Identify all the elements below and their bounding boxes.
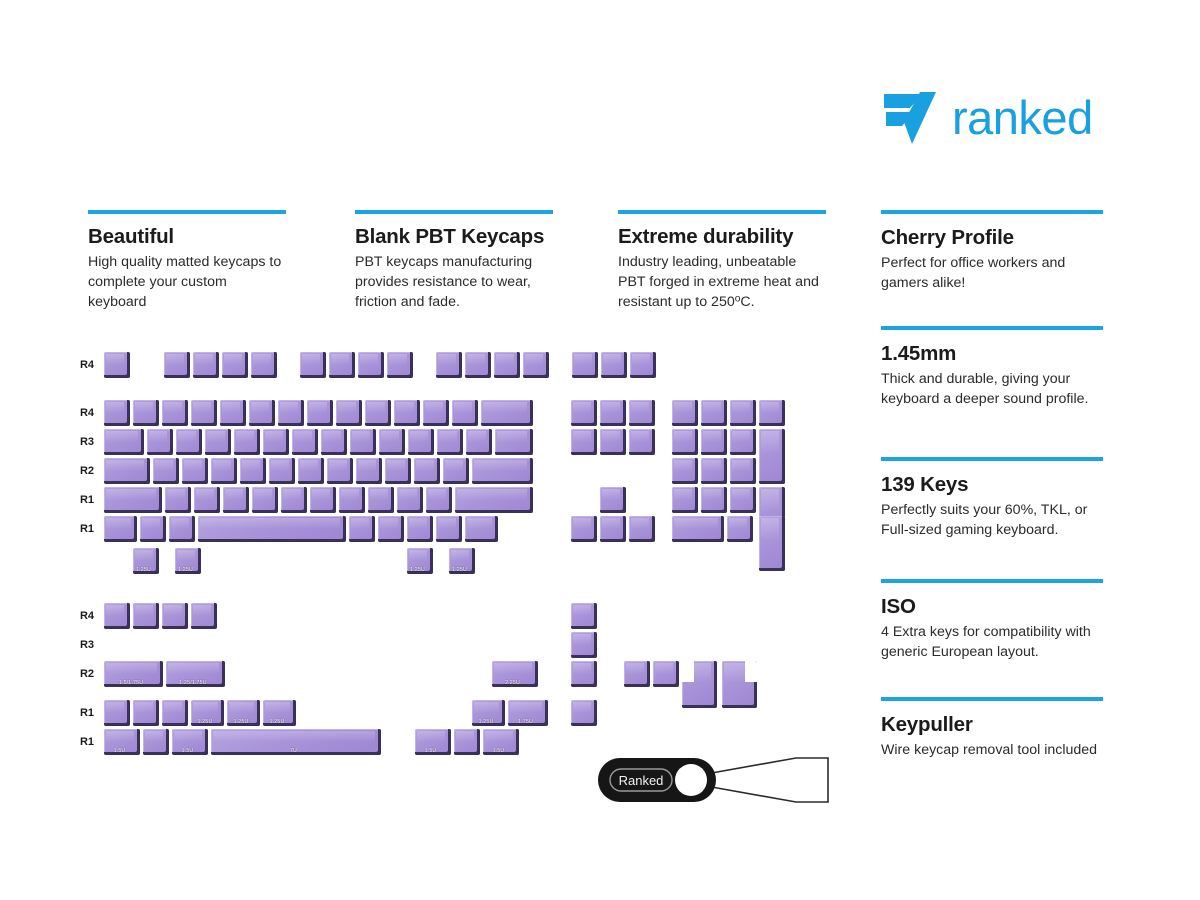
keycap [240, 458, 266, 484]
feature-title: Cherry Profile [881, 226, 1103, 250]
keycap-size-label: 1.5U [483, 748, 514, 755]
keycap [365, 400, 391, 426]
keycap [211, 458, 237, 484]
keycap-size-label: 1.25U [472, 719, 500, 726]
keycap [672, 429, 698, 455]
keycap [629, 516, 655, 542]
keycap-size-label: 2.25U [492, 680, 533, 687]
keyboard-row-label: R3 [68, 639, 94, 651]
keycap [162, 603, 188, 629]
keycap [571, 632, 597, 658]
keycap [727, 516, 753, 542]
keycap-size-label: 1.25U [175, 567, 196, 574]
keycap: 1.5/1.75U [104, 661, 163, 687]
keycap [701, 487, 727, 513]
keycap [426, 487, 452, 513]
keycap [339, 487, 365, 513]
keycap [653, 661, 679, 687]
keycap [394, 400, 420, 426]
keycap: 2.25U [492, 661, 538, 687]
keycap: 1.5U [483, 729, 519, 755]
keycap-size-label: 1.5U [104, 748, 135, 755]
side-feature-keypuller: Keypuller Wire keycap removal tool inclu… [881, 697, 1103, 760]
keycap [523, 352, 549, 378]
keycap: 1.25U [227, 700, 260, 726]
keycap [682, 661, 717, 708]
keycap [571, 429, 597, 455]
keycap [600, 516, 626, 542]
keycap-size-label: 1.5/1.75U [104, 680, 158, 687]
keyboard-row-label: R2 [68, 465, 94, 477]
keycap [263, 429, 289, 455]
keycap: 1.5U [172, 729, 208, 755]
keycap [104, 700, 130, 726]
keycap: 1.25U [472, 700, 505, 726]
keycap-size-label: 1.5U [172, 748, 203, 755]
side-feature-cherry-profile: Cherry Profile Perfect for office worker… [881, 210, 1103, 293]
keycap [672, 487, 698, 513]
keycap [730, 487, 756, 513]
keycap [672, 400, 698, 426]
keycap [494, 352, 520, 378]
keycap [571, 603, 597, 629]
keycap-size-label: 1.25U [191, 719, 219, 726]
infographic-page: ranked Beautiful High quality matted key… [0, 0, 1200, 900]
keycap [481, 400, 533, 426]
keycap [193, 352, 219, 378]
brand-wordmark: ranked [952, 94, 1093, 141]
keycap [133, 700, 159, 726]
keyboard-row-label: R1 [68, 494, 94, 506]
feature-rule [881, 326, 1103, 330]
keycap [198, 516, 346, 542]
feature-title: ISO [881, 595, 1103, 619]
keycap: 1.5U [104, 729, 140, 755]
brand-logo: ranked [880, 88, 1093, 146]
keycap [600, 429, 626, 455]
keycap [436, 516, 462, 542]
keycap [356, 458, 382, 484]
keycap: 1.5U [415, 729, 451, 755]
keycap: 1.75U [508, 700, 548, 726]
keycap [162, 400, 188, 426]
keycap-size-label: 1.75U [508, 719, 543, 726]
keycap [223, 487, 249, 513]
keycap [281, 487, 307, 513]
keycap: 7U [211, 729, 381, 755]
keycap [701, 400, 727, 426]
keycap [368, 487, 394, 513]
keycap [759, 400, 785, 426]
keycap [397, 487, 423, 513]
keycap [278, 400, 304, 426]
side-feature-key-count: 139 Keys Perfectly suits your 60%, TKL, … [881, 457, 1103, 540]
keycap [162, 700, 188, 726]
feature-body: Thick and durable, giving your keyboard … [881, 369, 1103, 409]
keycap [164, 352, 190, 378]
feature-body: 4 Extra keys for compatibility with gene… [881, 622, 1103, 662]
keycap [310, 487, 336, 513]
keycap [437, 429, 463, 455]
feature-body: Perfectly suits your 60%, TKL, or Full-s… [881, 500, 1103, 540]
feature-title: 1.45mm [881, 342, 1103, 366]
keycap [165, 487, 191, 513]
keycap [472, 458, 533, 484]
keycap [452, 400, 478, 426]
feature-rule [881, 697, 1103, 701]
keycap [722, 661, 757, 708]
keycap [571, 400, 597, 426]
keycap [454, 729, 480, 755]
keycap: 1.25U [263, 700, 296, 726]
keycap [701, 429, 727, 455]
side-feature-iso: ISO 4 Extra keys for compatibility with … [881, 579, 1103, 662]
keycap [182, 458, 208, 484]
keycap [104, 458, 150, 484]
keycap-size-label: 1.5U [415, 748, 446, 755]
keycap-size-label: 1.25U [263, 719, 291, 726]
keycap [104, 400, 130, 426]
keycap-size-label: 1.25U [407, 567, 428, 574]
keycap [630, 352, 656, 378]
keycap [104, 487, 162, 513]
keycap: 1.25U [449, 548, 475, 574]
keycap [298, 458, 324, 484]
keycap [436, 352, 462, 378]
keycap [730, 400, 756, 426]
keycap [104, 603, 130, 629]
keyboard-row-label: R1 [68, 707, 94, 719]
keyboard-row-label: R3 [68, 436, 94, 448]
keycap [571, 516, 597, 542]
keycap [147, 429, 173, 455]
keycap [194, 487, 220, 513]
keycap [672, 458, 698, 484]
keycap [153, 458, 179, 484]
keycap [269, 458, 295, 484]
keycap [672, 516, 724, 542]
svg-text:Ranked: Ranked [619, 773, 664, 788]
feature-title: Keypuller [881, 713, 1103, 737]
keycap: 1.25/1.75U [166, 661, 225, 687]
keyboard-row-label: R4 [68, 407, 94, 419]
keycap [349, 516, 375, 542]
keycap [104, 516, 137, 542]
keycap [300, 352, 326, 378]
keycap [600, 400, 626, 426]
keycap [176, 429, 202, 455]
keyboard-row-label: R1 [68, 736, 94, 748]
keyboard-row-label: R1 [68, 523, 94, 535]
keycap [571, 700, 597, 726]
keycap [466, 429, 492, 455]
keycap [730, 429, 756, 455]
keycap-size-label: 1.25/1.75U [166, 680, 220, 687]
keycap [133, 400, 159, 426]
keycap [455, 487, 533, 513]
keycap [414, 458, 440, 484]
keycap [222, 352, 248, 378]
keycap [252, 487, 278, 513]
feature-title: 139 Keys [881, 473, 1103, 497]
keycap [104, 352, 130, 378]
keycap [249, 400, 275, 426]
keycap [378, 516, 404, 542]
keycap [133, 603, 159, 629]
keycap [191, 603, 217, 629]
keycap [629, 429, 655, 455]
keyboard-row-label: R4 [68, 359, 94, 371]
keycap-size-label: 1.25U [227, 719, 255, 726]
keycap [234, 429, 260, 455]
keycap [140, 516, 166, 542]
keycap [601, 352, 627, 378]
side-feature-thickness: 1.45mm Thick and durable, giving your ke… [881, 326, 1103, 409]
keycap [408, 429, 434, 455]
feature-rule [881, 579, 1103, 583]
feature-rule [881, 210, 1103, 214]
keycap: 1.25U [191, 700, 224, 726]
keycap [571, 661, 597, 687]
keycap-size-label: 1.25U [449, 567, 470, 574]
keycap [329, 352, 355, 378]
keycap [730, 458, 756, 484]
keycap [358, 352, 384, 378]
keycap-size-label: 1.25U [133, 567, 154, 574]
keycap [387, 352, 413, 378]
keycap [220, 400, 246, 426]
feature-body: Wire keycap removal tool included [881, 740, 1103, 760]
keycap [624, 661, 650, 687]
keycap [327, 458, 353, 484]
keycap [385, 458, 411, 484]
keyboard-row-label: R2 [68, 668, 94, 680]
keycap [407, 516, 433, 542]
keycap [143, 729, 169, 755]
keycap [465, 516, 498, 542]
keycap [443, 458, 469, 484]
keycap [292, 429, 318, 455]
keypuller-illustration: Ranked [596, 752, 836, 808]
keycap [379, 429, 405, 455]
keycap [701, 458, 727, 484]
keycap [600, 487, 626, 513]
keycap [205, 429, 231, 455]
keycap [251, 352, 277, 378]
keycap [350, 429, 376, 455]
keycap [104, 429, 144, 455]
keycap [629, 400, 655, 426]
keycap-size-label: 7U [211, 748, 376, 755]
keycap [321, 429, 347, 455]
feature-body: Perfect for office workers and gamers al… [881, 253, 1103, 293]
keycap: 1.25U [407, 548, 433, 574]
keycap [465, 352, 491, 378]
keycap [572, 352, 598, 378]
keycap [759, 516, 785, 571]
keyboard-row-label: R4 [68, 610, 94, 622]
keycap [169, 516, 195, 542]
keycap [336, 400, 362, 426]
keycap [191, 400, 217, 426]
keycap [495, 429, 533, 455]
keycap [307, 400, 333, 426]
keycap: 1.25U [175, 548, 201, 574]
keycap [759, 429, 785, 484]
feature-rule [881, 457, 1103, 461]
keycap: 1.25U [133, 548, 159, 574]
keycap [423, 400, 449, 426]
